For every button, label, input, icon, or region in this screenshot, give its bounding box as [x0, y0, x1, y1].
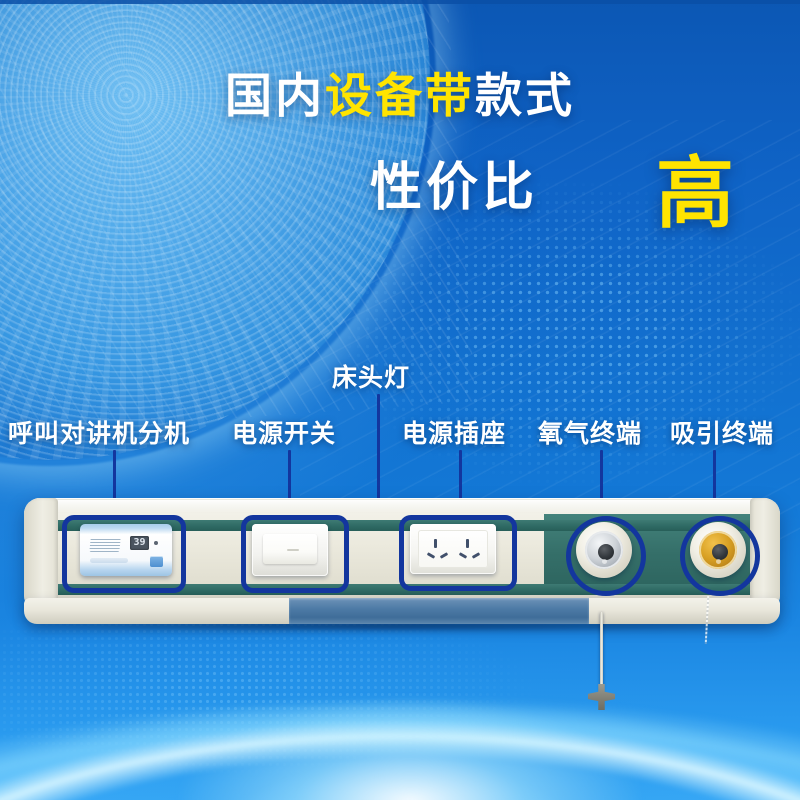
callout-label-power-switch: 电源开关: [232, 414, 336, 450]
headline-value-text: 性价比: [370, 145, 538, 220]
top-edge-bar: [0, 0, 800, 4]
callout-label-suction-terminal: 吸引终端: [670, 414, 774, 450]
headline-line-1: 国内设备带款式: [0, 72, 800, 119]
callout-label-bed-lamp: 床头灯: [332, 358, 410, 394]
rail-lower-blue-section: [289, 598, 589, 624]
poster-canvas: 国内设备带款式 性价比 高 呼叫对讲机分机 电源开关 床头灯 电源插座 氧气终端…: [0, 0, 800, 800]
highlight-box-power-switch: [241, 515, 349, 593]
highlight-box-power-socket: [399, 515, 517, 591]
headline-emphasis-text: 高: [656, 131, 734, 243]
rail-top-highlight: [28, 500, 776, 512]
highlight-circle-oxygen-terminal: [566, 516, 646, 596]
headline-seg-2: 设备带: [325, 69, 475, 122]
callout-label-oxygen-terminal: 氧气终端: [538, 414, 642, 450]
headline-seg-3: 款式: [475, 69, 575, 122]
headline-seg-1: 国内: [225, 69, 325, 122]
horizon-glow-core: [180, 700, 640, 800]
headline-line-2: 性价比 高: [0, 145, 800, 217]
callout-label-intercom: 呼叫对讲机分机: [8, 414, 190, 450]
highlight-circle-suction-terminal: [680, 516, 760, 596]
hanging-probe-rod: [600, 612, 603, 690]
rail-end-cap-left: [24, 498, 58, 610]
highlight-box-intercom: [62, 515, 186, 593]
headline-block: 国内设备带款式 性价比 高: [0, 72, 800, 217]
callout-label-power-socket: 电源插座: [402, 414, 506, 450]
